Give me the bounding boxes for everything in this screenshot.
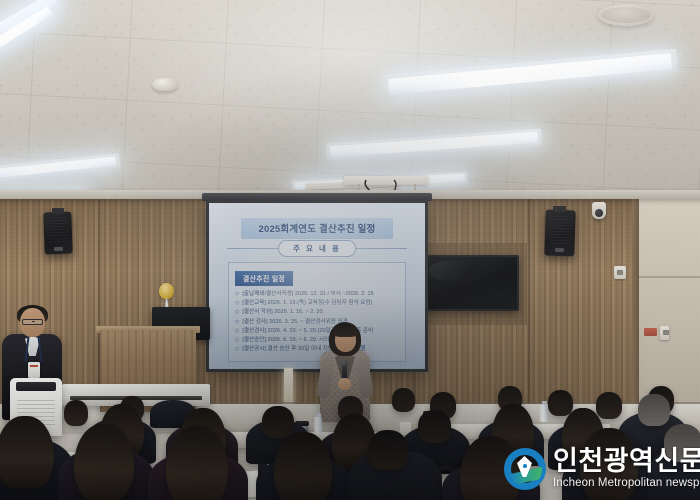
door-frame-edge	[632, 198, 639, 416]
security-camera-icon	[592, 202, 606, 219]
presenter-hair-front	[333, 324, 358, 337]
wall-outlet[interactable]	[614, 266, 626, 279]
audience-head	[596, 392, 622, 419]
water-bottle[interactable]	[540, 404, 548, 422]
id-badge	[28, 362, 40, 378]
projection-screen: 2025회계연도 결산추진 일정 주 요 내 용 결산추진 일정 ◇ [출납폐쇄…	[206, 200, 428, 372]
slide-line-text: [결산교육] 2026. 1. 15.(목) 교육장(수 담당자 참석 요망)	[242, 299, 372, 308]
slide-line: ◇ [출납폐쇄/결산서작성] 2025. 12. 31 / 부서 ~2026. …	[235, 290, 399, 299]
exit-sign	[644, 328, 657, 336]
speaker-badge	[54, 246, 63, 250]
slide-chip-label: 주 요 내 용	[278, 240, 356, 257]
water-bottle[interactable]	[314, 416, 322, 434]
audience-head	[262, 406, 294, 438]
speaker-bracket-right	[553, 206, 566, 212]
slide-line: ◇ [결산공시] 결산 승인 후 20일 이내 지방재정공시 시행	[235, 345, 399, 354]
bullet-marker: ◇	[235, 299, 239, 308]
air-diffuser	[598, 4, 654, 26]
slide-line-text: [결산서 작성] 2026. 1. 16. ~ 2. 20.	[242, 308, 324, 317]
watermark: 인천광역신문 Incheon Metropolitan newspaper	[504, 443, 696, 495]
bullet-marker: ◇	[235, 290, 239, 299]
watermark-text: 인천광역신문 Incheon Metropolitan newspaper	[553, 448, 700, 490]
bullet-marker: ◇	[235, 336, 239, 345]
audience-head	[418, 410, 451, 443]
bullet-marker: ◇	[235, 345, 239, 354]
wall-speaker-left	[43, 212, 72, 255]
speaker-grille	[548, 215, 573, 244]
wall-tv-monitor	[421, 255, 519, 311]
audience-long-hair	[74, 424, 134, 500]
audience-head	[548, 390, 573, 416]
bullet-marker: ◇	[235, 318, 239, 327]
speaker-badge	[555, 248, 564, 252]
audience-head	[64, 400, 88, 426]
audience-head	[392, 388, 415, 412]
speaker-bracket-left	[52, 208, 64, 214]
slide-line: ◇ [결산교육] 2026. 1. 15.(목) 교육장(수 담당자 참석 요망…	[235, 299, 399, 308]
bag-handle	[432, 466, 458, 488]
audience-head-grey-hair	[638, 394, 670, 426]
speaker-grille	[46, 217, 69, 244]
wall-panel-seam	[528, 198, 530, 412]
slide-line-text: [출납폐쇄/결산서작성] 2025. 12. 31 / 부서 ~2026. 2.…	[242, 290, 373, 299]
slide-divider: 주 요 내 용	[227, 248, 407, 249]
flag-finial	[159, 283, 174, 299]
eyeglasses-icon	[22, 319, 43, 325]
bullet-marker: ◇	[235, 327, 239, 336]
projection-screen-surface: 2025회계연도 결산추진 일정 주 요 내 용 결산추진 일정 ◇ [출납폐쇄…	[209, 203, 425, 369]
smoke-detector-icon	[152, 78, 178, 91]
bullet-marker: ◇	[235, 308, 239, 317]
newspaper-logo-icon	[504, 448, 546, 490]
slide-title: 2025회계연도 결산추진 일정	[241, 218, 393, 239]
wall-cream-seam	[638, 276, 700, 278]
audience-long-hair	[274, 432, 332, 500]
slide-content: 2025회계연도 결산추진 일정 주 요 내 용 결산추진 일정 ◇ [출납폐쇄…	[209, 203, 425, 369]
tv-screen-glare	[429, 261, 481, 281]
presenter-hand	[338, 378, 351, 390]
watermark-korean: 인천광역신문	[553, 448, 700, 476]
audience-long-hair	[0, 416, 54, 488]
slide-line: ◇ [결산검사] 2026. 4. 10. ~ 5. 20.(20일간) 의회 …	[235, 327, 399, 336]
slide-line: ◇ [결산승인] 2026. 6. 10. ~ 6. 20. 시의회 심의	[235, 336, 399, 345]
watermark-english: Incheon Metropolitan newspaper	[553, 477, 700, 490]
audience-head	[368, 430, 408, 470]
slide-line: ◇ [결산서 작성] 2026. 1. 16. ~ 2. 20.	[235, 308, 399, 317]
slide-line: ◇ [결산 검사] 2026. 3. 25. ~ 결산검사위원 의견	[235, 318, 399, 327]
photo-scene: 2025회계연도 결산추진 일정 주 요 내 용 결산추진 일정 ◇ [출납폐쇄…	[0, 0, 700, 500]
slide-body: 결산추진 일정 ◇ [출납폐쇄/결산서작성] 2025. 12. 31 / 부서…	[228, 262, 406, 362]
air-purifier-top-panel	[16, 382, 56, 391]
wall-switch-plate[interactable]	[660, 326, 669, 340]
slide-section-label: 결산추진 일정	[235, 271, 293, 286]
audience-long-hair	[166, 426, 228, 500]
wall-speaker-right	[544, 209, 576, 256]
